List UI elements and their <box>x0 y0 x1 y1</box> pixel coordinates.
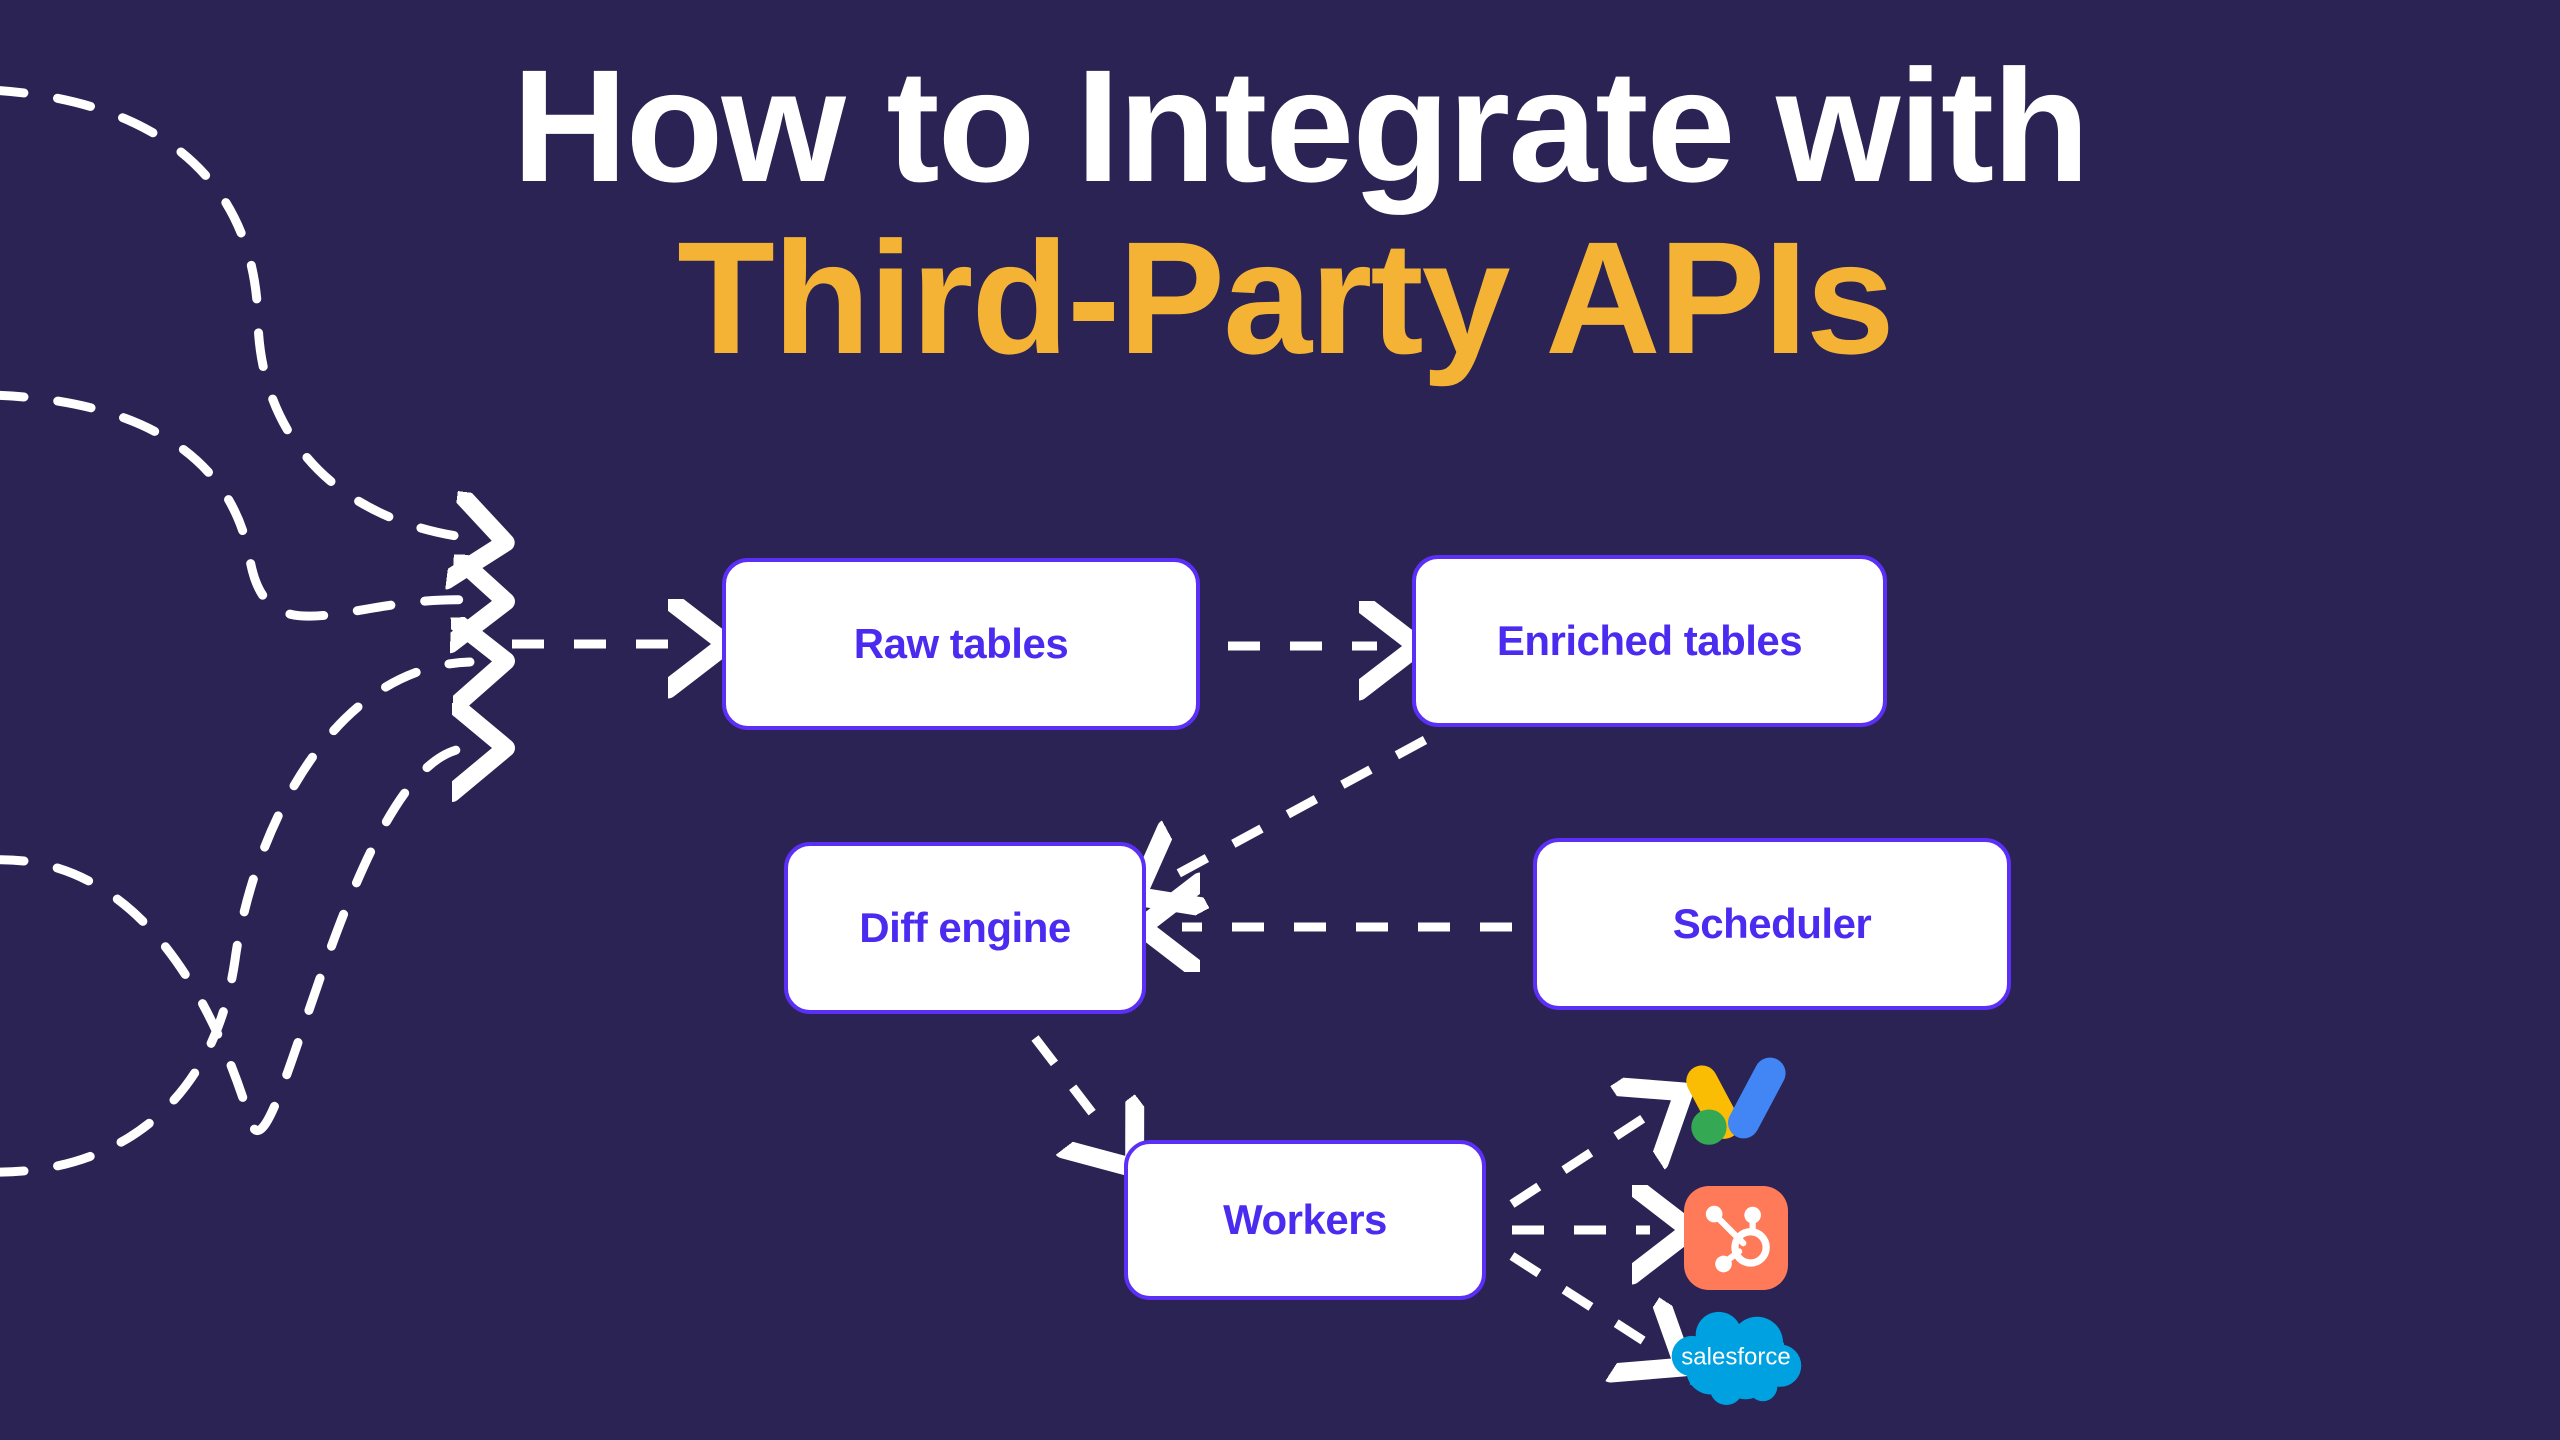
infographic-canvas: How to Integrate with Third-Party APIs <box>0 0 2560 1440</box>
node-raw-tables[interactable]: Raw tables <box>722 558 1200 730</box>
arrow-workers-to-salesforce <box>1512 1256 1650 1345</box>
node-label: Scheduler <box>1673 900 1872 948</box>
google-ads-logo[interactable] <box>1684 1048 1788 1148</box>
arrow-workers-to-google-ads <box>1512 1114 1650 1204</box>
node-enriched-tables[interactable]: Enriched tables <box>1412 555 1887 727</box>
node-label: Workers <box>1223 1196 1387 1244</box>
node-label: Enriched tables <box>1497 617 1802 665</box>
salesforce-logo[interactable]: salesforce <box>1668 1310 1804 1406</box>
salesforce-wordmark: salesforce <box>1681 1344 1790 1371</box>
arrow-diff-to-workers <box>1035 1038 1110 1136</box>
node-workers[interactable]: Workers <box>1124 1140 1486 1300</box>
architecture-diagram: Raw tables Enriched tables Diff engine S… <box>0 0 2560 1440</box>
salesforce-cloud-icon: salesforce <box>1668 1310 1804 1406</box>
hubspot-icon <box>1684 1186 1788 1290</box>
hubspot-logo[interactable] <box>1684 1186 1788 1290</box>
node-scheduler[interactable]: Scheduler <box>1533 838 2011 1010</box>
arrow-enriched-to-diff <box>1172 740 1425 877</box>
google-ads-icon <box>1684 1048 1788 1148</box>
node-diff-engine[interactable]: Diff engine <box>784 842 1146 1014</box>
node-label: Raw tables <box>854 620 1068 668</box>
node-label: Diff engine <box>859 904 1071 952</box>
